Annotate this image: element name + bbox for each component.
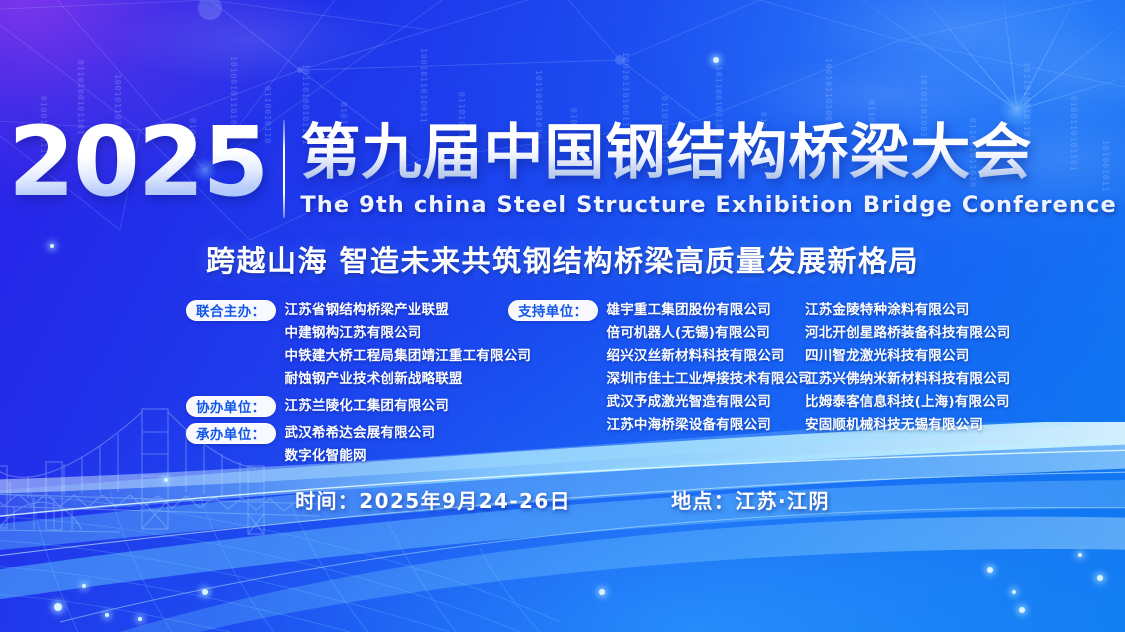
organization-label-pill: 联合主办： xyxy=(186,300,276,321)
organization-item-list: 江苏省钢结构桥梁产业联盟中建钢构江苏有限公司中铁建大桥工程局集团靖江重工有限公司… xyxy=(285,299,532,391)
organization-item: 四川智龙激光科技有限公司 xyxy=(805,345,1011,368)
organization-group: 江苏金陵特种涂料有限公司河北开创星路桥装备科技有限公司四川智龙激光科技有限公司江… xyxy=(805,299,1011,437)
organization-item: 武汉希希达会展有限公司 xyxy=(285,422,436,445)
organization-item: 河北开创星路桥装备科技有限公司 xyxy=(805,322,1011,345)
conference-banner: 0100101011001101001011011001011010001011… xyxy=(0,0,1125,632)
organization-item: 中建钢构江苏有限公司 xyxy=(285,322,532,345)
organization-item-list: 江苏金陵特种涂料有限公司河北开创星路桥装备科技有限公司四川智龙激光科技有限公司江… xyxy=(805,299,1011,437)
organization-item: 江苏兴佛纳米新材料科技有限公司 xyxy=(805,368,1011,391)
event-location: 地点：江苏·江阴 xyxy=(671,485,830,514)
organization-item: 数字化智能网 xyxy=(285,445,436,468)
organization-item: 中铁建大桥工程局集团靖江重工有限公司 xyxy=(285,345,532,368)
organization-label-pill: 承办单位： xyxy=(186,423,276,444)
organization-item: 雄宇重工集团股份有限公司 xyxy=(607,299,813,322)
organization-label-pill: 支持单位： xyxy=(508,300,598,321)
organization-item: 江苏金陵特种涂料有限公司 xyxy=(805,299,1011,322)
organizations-section: 联合主办：江苏省钢结构桥梁产业联盟中建钢构江苏有限公司中铁建大桥工程局集团靖江重… xyxy=(0,299,1125,449)
title-stack: 第九届中国钢结构桥梁大会 The 9th china Steel Structu… xyxy=(300,118,1117,218)
event-date: 时间：2025年9月24-26日 xyxy=(295,485,571,514)
organization-group: 支持单位：雄宇重工集团股份有限公司倍可机器人(无锡)有限公司绍兴汉丝新材料科技有… xyxy=(508,299,812,437)
organization-item-list: 雄宇重工集团股份有限公司倍可机器人(无锡)有限公司绍兴汉丝新材料科技有限公司深圳… xyxy=(607,299,813,437)
chinese-title: 第九届中国钢结构桥梁大会 xyxy=(300,118,1117,188)
organization-item: 安固顺机械科技无锡有限公司 xyxy=(805,414,1011,437)
organization-group: 承办单位：武汉希希达会展有限公司数字化智能网 xyxy=(186,422,531,468)
slogan-text: 跨越山海 智造未来共筑钢结构桥梁高质量发展新格局 xyxy=(0,238,1125,280)
organization-item-list: 武汉希希达会展有限公司数字化智能网 xyxy=(285,422,436,468)
title-divider xyxy=(283,120,285,218)
footer-info: 时间：2025年9月24-26日 地点：江苏·江阴 xyxy=(0,485,1125,514)
organization-label-pill: 协办单位： xyxy=(186,396,276,417)
organization-item: 比姆泰客信息科技(上海)有限公司 xyxy=(805,391,1011,414)
organization-item: 深圳市佳士工业焊接技术有限公司 xyxy=(607,368,813,391)
organization-item: 耐蚀钢产业技术创新战略联盟 xyxy=(285,368,532,391)
organization-item: 江苏省钢结构桥梁产业联盟 xyxy=(285,299,532,322)
organization-item: 江苏兰陵化工集团有限公司 xyxy=(285,395,449,418)
organizations-right-column: 江苏金陵特种涂料有限公司河北开创星路桥装备科技有限公司四川智龙激光科技有限公司江… xyxy=(805,299,1011,437)
organization-group: 协办单位：江苏兰陵化工集团有限公司 xyxy=(186,395,531,418)
banner-content: 2025 第九届中国钢结构桥梁大会 The 9th china Steel St… xyxy=(0,0,1125,632)
organization-item-list: 江苏兰陵化工集团有限公司 xyxy=(285,395,449,418)
organizations-left-column: 联合主办：江苏省钢结构桥梁产业联盟中建钢构江苏有限公司中铁建大桥工程局集团靖江重… xyxy=(186,299,531,468)
organization-item: 江苏中海桥梁设备有限公司 xyxy=(607,414,813,437)
english-title: The 9th china Steel Structure Exhibition… xyxy=(300,192,1117,218)
year-text: 2025 xyxy=(8,118,267,204)
organization-group: 联合主办：江苏省钢结构桥梁产业联盟中建钢构江苏有限公司中铁建大桥工程局集团靖江重… xyxy=(186,299,531,391)
organization-item: 倍可机器人(无锡)有限公司 xyxy=(607,322,813,345)
organization-item: 绍兴汉丝新材料科技有限公司 xyxy=(607,345,813,368)
organization-item: 武汉予成激光智造有限公司 xyxy=(607,391,813,414)
organizations-middle-column: 支持单位：雄宇重工集团股份有限公司倍可机器人(无锡)有限公司绍兴汉丝新材料科技有… xyxy=(508,299,812,437)
title-row: 2025 第九届中国钢结构桥梁大会 The 9th china Steel St… xyxy=(0,118,1125,218)
